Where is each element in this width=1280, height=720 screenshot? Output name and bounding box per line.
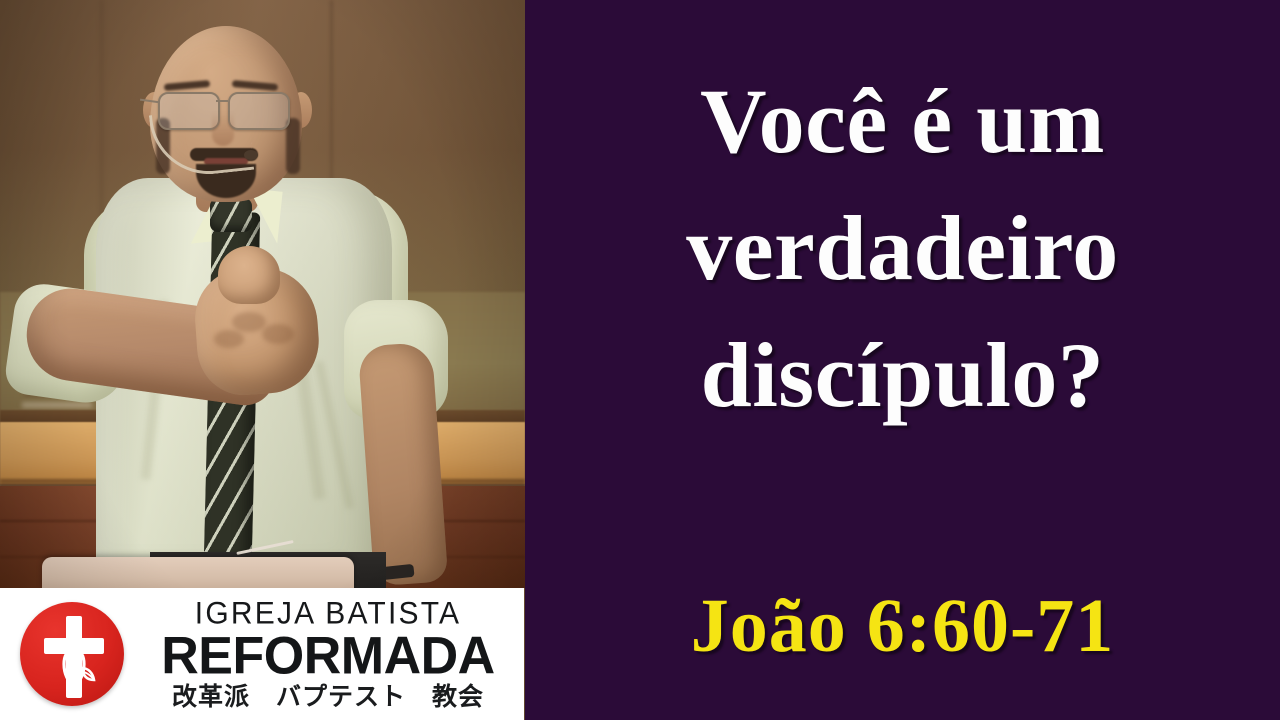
church-name-line-2: REFORMADA xyxy=(138,629,518,682)
laptop xyxy=(42,557,354,591)
church-name-block: IGREJA BATISTA REFORMADA 改革派 バプテスト 教会 xyxy=(128,599,524,709)
scripture-reference: João 6:60-71 xyxy=(525,583,1280,670)
headset-microphone-capsule xyxy=(244,150,258,160)
church-name-line-1: IGREJA BATISTA xyxy=(138,598,518,629)
church-emblem-icon xyxy=(16,598,128,710)
knuckle-c xyxy=(214,330,244,348)
eyeglass-bridge xyxy=(216,100,228,102)
title-line-2: verdadeiro xyxy=(553,185,1253,312)
church-name-line-3-japanese: 改革派 バプテスト 教会 xyxy=(138,684,518,709)
pointing-finger xyxy=(218,246,280,304)
church-logo-bar: IGREJA BATISTA REFORMADA 改革派 バプテスト 教会 xyxy=(0,588,524,720)
knuckle-a xyxy=(232,312,266,332)
title-panel: Você é um verdadeiro discípulo? João 6:6… xyxy=(525,0,1280,720)
title-line-1: Você é um xyxy=(553,58,1253,185)
sermon-slide: IGREJA BATISTA REFORMADA 改革派 バプテスト 教会 Vo… xyxy=(0,0,1280,720)
sideburn-right xyxy=(286,118,300,174)
tulip-icon xyxy=(52,642,96,692)
slide-title: Você é um verdadeiro discípulo? xyxy=(553,58,1253,439)
knuckle-b xyxy=(262,324,294,344)
title-line-3: discípulo? xyxy=(553,312,1253,439)
tie-knot xyxy=(210,198,252,232)
preacher-figure xyxy=(0,0,525,600)
